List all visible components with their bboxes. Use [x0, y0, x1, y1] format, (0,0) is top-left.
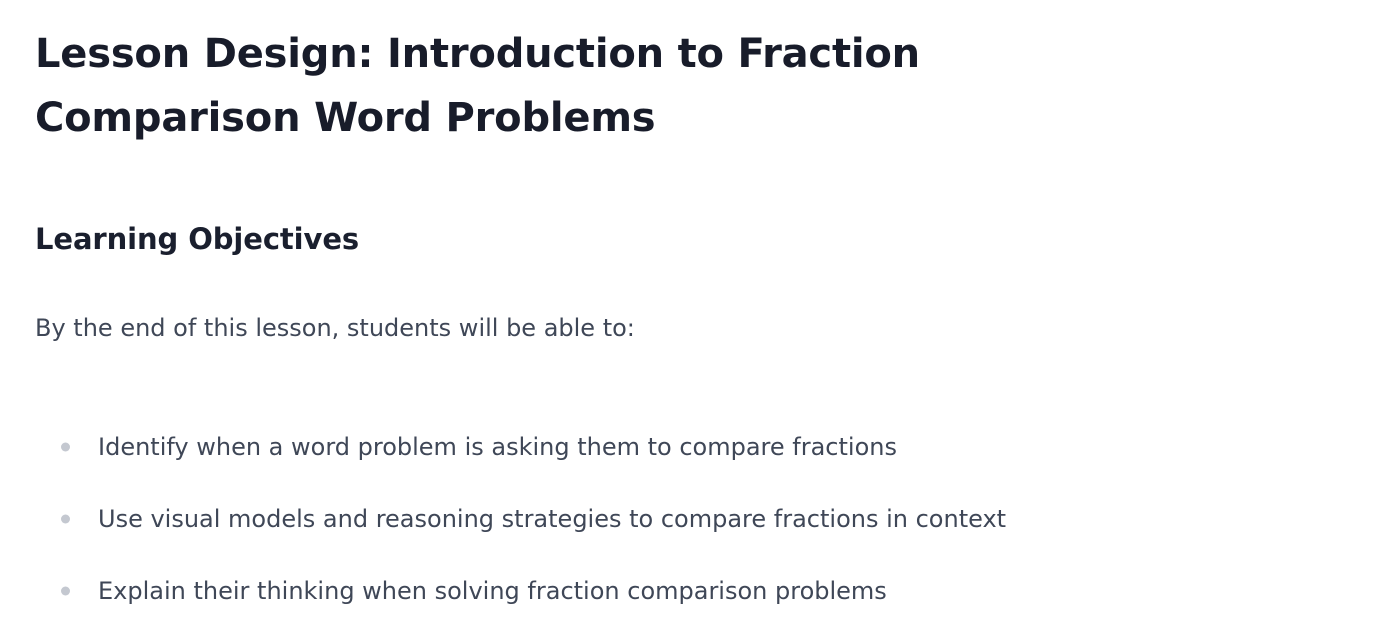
list-item: Explain their thinking when solving frac… — [35, 555, 1338, 627]
list-item: Use visual models and reasoning strategi… — [35, 483, 1338, 555]
objectives-list: Identify when a word problem is asking t… — [35, 411, 1338, 627]
page-title: Lesson Design: Introduction to Fraction … — [35, 22, 1045, 150]
objectives-intro-paragraph: By the end of this lesson, students will… — [35, 311, 1338, 345]
list-item-label: Use visual models and reasoning strategi… — [98, 503, 1006, 535]
bullet-icon — [61, 443, 70, 452]
section-learning-objectives: Learning Objectives By the end of this l… — [35, 220, 1338, 627]
bullet-icon — [61, 515, 70, 524]
section-heading-learning-objectives: Learning Objectives — [35, 220, 1338, 258]
list-item: Identify when a word problem is asking t… — [35, 411, 1338, 483]
list-item-label: Explain their thinking when solving frac… — [98, 575, 887, 607]
bullet-icon — [61, 587, 70, 596]
document-body: Lesson Design: Introduction to Fraction … — [0, 0, 1378, 627]
list-item-label: Identify when a word problem is asking t… — [98, 431, 897, 463]
